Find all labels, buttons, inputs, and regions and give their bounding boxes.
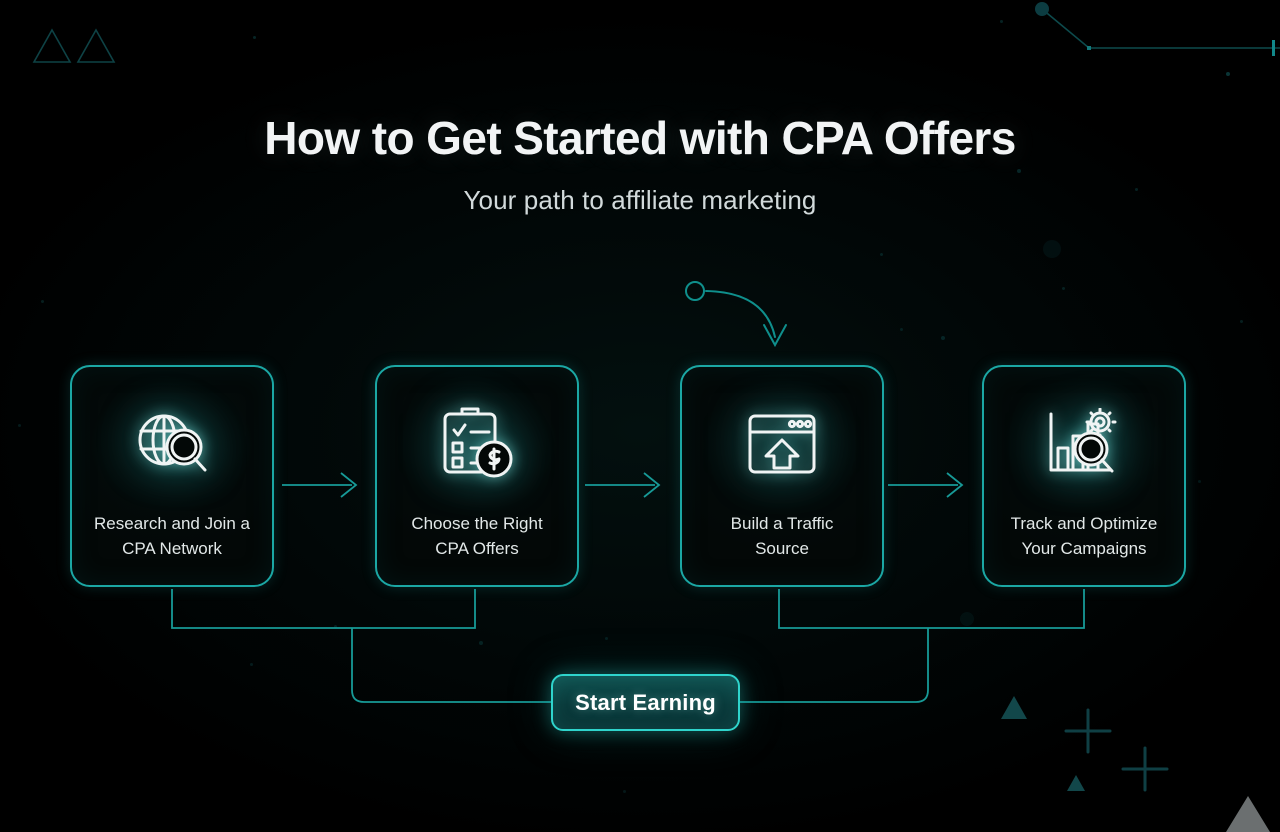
triangle-solid-icon [1001, 696, 1085, 791]
step-card-label: Research and Join a CPA Network [78, 511, 266, 561]
circuit-node-icon [1035, 2, 1049, 16]
circuit-trace-icon [1042, 9, 1280, 48]
plus-mark-icon [1066, 710, 1167, 790]
triangle-outline-icon [34, 30, 114, 62]
step-card-label: Build a Traffic Source [688, 511, 876, 561]
bar-chart-search-gear-icon [1041, 403, 1127, 485]
corner-triangle-icon [1226, 796, 1270, 832]
step-card-research-join-cpa-network[interactable]: Research and Join a CPA Network [70, 365, 274, 587]
curved-arrow-icon [686, 282, 786, 345]
page-title: How to Get Started with CPA Offers [0, 112, 1280, 165]
circuit-endcap-icon [1272, 40, 1275, 56]
bracket-right [779, 589, 1084, 628]
step-card-track-optimize-campaigns[interactable]: Track and Optimize Your Campaigns [982, 365, 1186, 587]
step-card-build-traffic-source[interactable]: Build a Traffic Source [680, 365, 884, 587]
browser-upload-icon [739, 403, 825, 485]
step-card-choose-right-cpa-offers[interactable]: Choose the Right CPA Offers [375, 365, 579, 587]
start-earning-button[interactable]: Start Earning [551, 674, 740, 731]
infographic-canvas: How to Get Started with CPA Offers Your … [0, 0, 1280, 832]
page-subtitle: Your path to affiliate marketing [0, 185, 1280, 216]
steps-row: Research and Join a CPA Network Choo [0, 365, 1280, 587]
step-card-label: Track and Optimize Your Campaigns [990, 511, 1178, 561]
bracket-left [172, 589, 475, 628]
globe-search-icon [129, 403, 215, 485]
step-card-label: Choose the Right CPA Offers [383, 511, 571, 561]
header-block: How to Get Started with CPA Offers Your … [0, 112, 1280, 216]
circuit-pad-icon [1087, 46, 1091, 50]
clipboard-dollar-icon [434, 403, 520, 485]
